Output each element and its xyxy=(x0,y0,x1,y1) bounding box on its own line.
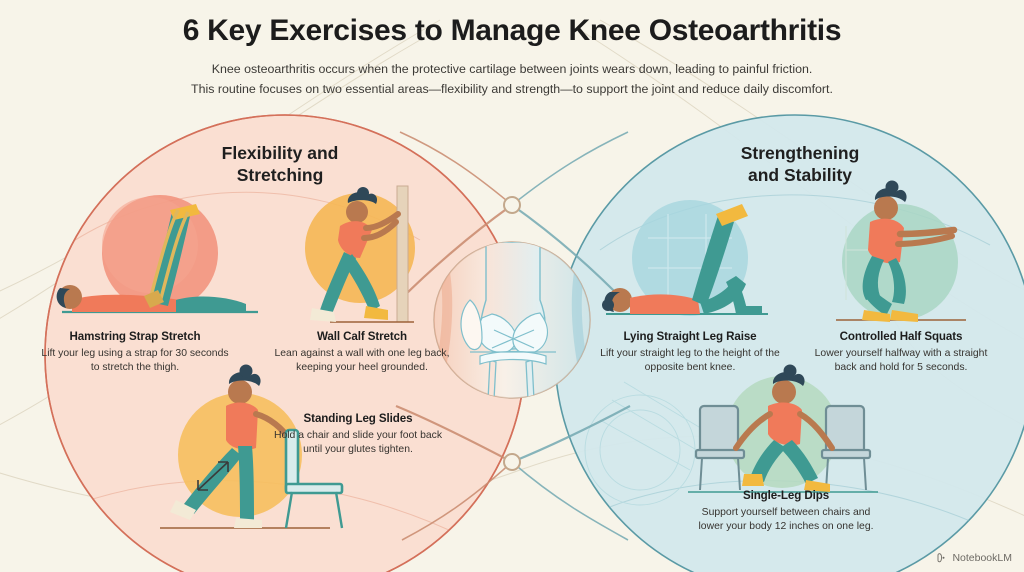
connector-node-top xyxy=(504,197,520,213)
venn-heading-right-line2: and Stability xyxy=(748,165,852,185)
illustration-single-leg-dips xyxy=(688,365,878,493)
connector-node-bottom xyxy=(504,454,520,470)
notebooklm-icon xyxy=(936,552,948,564)
exercise-description: Lower yourself halfway with a straight b… xyxy=(808,347,994,376)
venn-heading-right-line1: Strengthening xyxy=(741,143,860,163)
notebooklm-watermark: NotebookLM xyxy=(936,552,1012,564)
exercise-title: Lying Straight Leg Raise xyxy=(592,330,788,344)
exercise-title: Wall Calf Stretch xyxy=(272,330,452,344)
illustration-lying-straight-leg-raise xyxy=(602,200,768,316)
exercise-description: Lift your leg using a strap for 30 secon… xyxy=(40,347,230,376)
venn-heading-left-line2: Stretching xyxy=(237,165,324,185)
venn-heading-left: Flexibility and Stretching xyxy=(140,142,420,187)
subtitle-line-2: This routine focuses on two essential ar… xyxy=(191,82,833,96)
exercise-title: Single-Leg Dips xyxy=(688,489,884,503)
exercise-controlled-half-squats: Controlled Half Squats Lower yourself ha… xyxy=(808,330,994,376)
exercise-hamstring-strap-stretch: Hamstring Strap Stretch Lift your leg us… xyxy=(40,330,230,376)
exercise-description: Lean against a wall with one leg back, k… xyxy=(272,347,452,376)
header: 6 Key Exercises to Manage Knee Osteoarth… xyxy=(0,14,1024,99)
exercise-single-leg-dips: Single-Leg Dips Support yourself between… xyxy=(688,489,884,535)
exercise-description: Hold a chair and slide your foot back un… xyxy=(268,429,448,458)
exercise-title: Standing Leg Slides xyxy=(268,412,448,426)
knee-joint-anatomy-illustration xyxy=(434,242,590,400)
exercise-lying-straight-leg-raise: Lying Straight Leg Raise Lift your strai… xyxy=(592,330,788,376)
exercise-wall-calf-stretch: Wall Calf Stretch Lean against a wall wi… xyxy=(272,330,452,376)
exercise-description: Support yourself between chairs and lowe… xyxy=(688,506,884,535)
subtitle: Knee osteoarthritis occurs when the prot… xyxy=(72,59,952,100)
exercise-standing-leg-slides: Standing Leg Slides Hold a chair and sli… xyxy=(268,412,448,458)
exercise-title: Hamstring Strap Stretch xyxy=(40,330,230,344)
illustration-wall-calf-stretch xyxy=(305,186,415,322)
infographic-canvas: 6 Key Exercises to Manage Knee Osteoarth… xyxy=(0,0,1024,572)
exercise-title: Controlled Half Squats xyxy=(808,330,994,344)
page-title: 6 Key Exercises to Manage Knee Osteoarth… xyxy=(0,14,1024,49)
subtitle-line-1: Knee osteoarthritis occurs when the prot… xyxy=(212,62,813,76)
illustration-hamstring-strap-stretch xyxy=(57,195,258,312)
watermark-label: NotebookLM xyxy=(952,552,1012,564)
exercise-description: Lift your straight leg to the height of … xyxy=(592,347,788,376)
illustration-controlled-half-squats xyxy=(836,181,966,323)
venn-heading-right: Strengthening and Stability xyxy=(660,142,940,187)
venn-heading-left-line1: Flexibility and xyxy=(222,143,339,163)
